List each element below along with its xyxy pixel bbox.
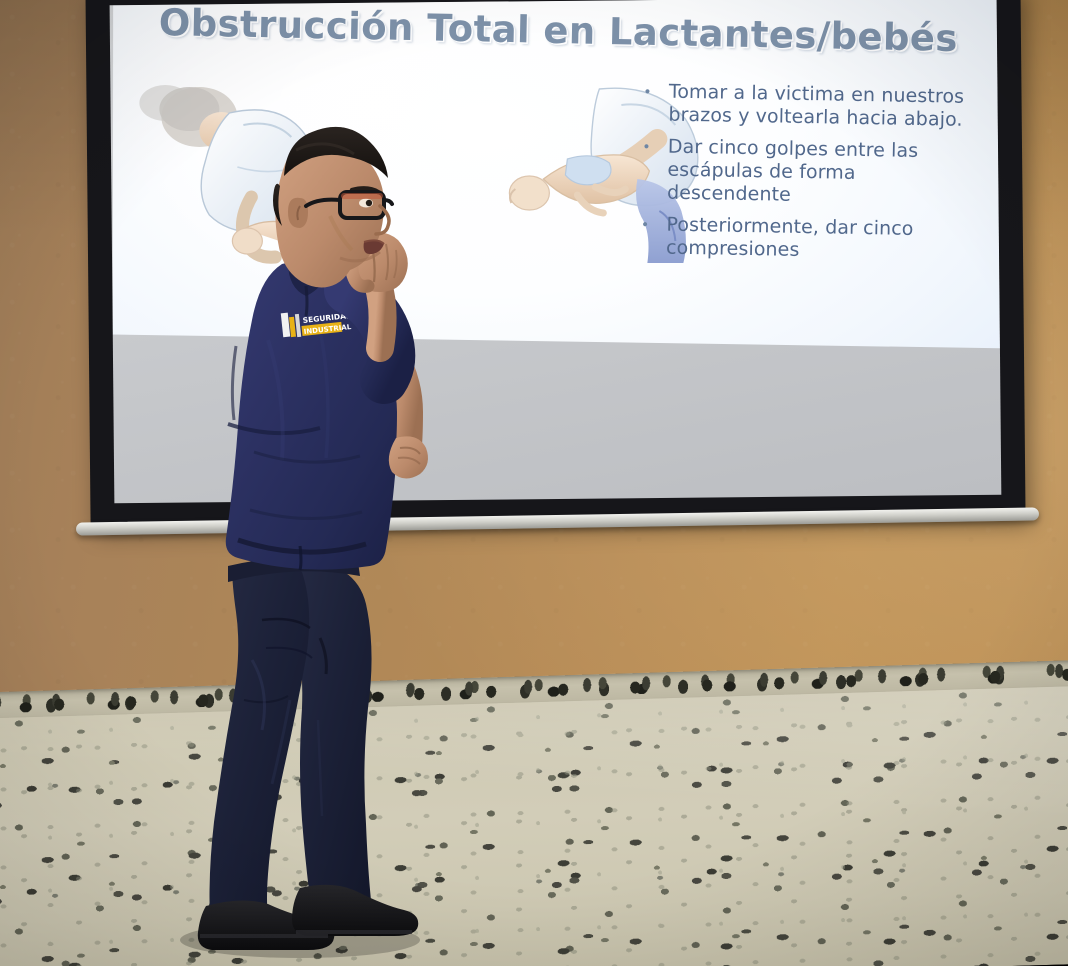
slide-bullet-item: • Dar cinco golpes entre las escápulas d… <box>639 135 970 210</box>
bullet-text: Posteriormente, dar cinco compresiones <box>666 214 969 265</box>
projection-screen: Obstrucción Total en Lactantes/bebés <box>85 0 1025 524</box>
bullet-text: Dar cinco golpes entre las escápulas de … <box>667 136 970 210</box>
slide-title: Obstrucción Total en Lactantes/bebés <box>133 0 984 60</box>
bullet-point-icon: • <box>638 213 666 237</box>
infant-back-blows-illustration <box>125 79 465 269</box>
slide-bullet-item: • Tomar a la victima en nuestros brazos … <box>640 80 971 132</box>
bullet-point-icon: • <box>641 80 669 104</box>
photo-scene: Obstrucción Total en Lactantes/bebés <box>0 0 1068 966</box>
slide-bullet-list: • Tomar a la victima en nuestros brazos … <box>638 80 971 274</box>
bullet-point-icon: • <box>640 135 668 159</box>
projection-screen-surface: Obstrucción Total en Lactantes/bebés <box>110 0 1002 503</box>
slide-bullet-item: • Posteriormente, dar cinco compresiones <box>638 213 969 265</box>
bullet-text: Tomar a la victima en nuestros brazos y … <box>668 81 971 132</box>
presentation-slide: Obstrucción Total en Lactantes/bebés <box>111 1 998 373</box>
